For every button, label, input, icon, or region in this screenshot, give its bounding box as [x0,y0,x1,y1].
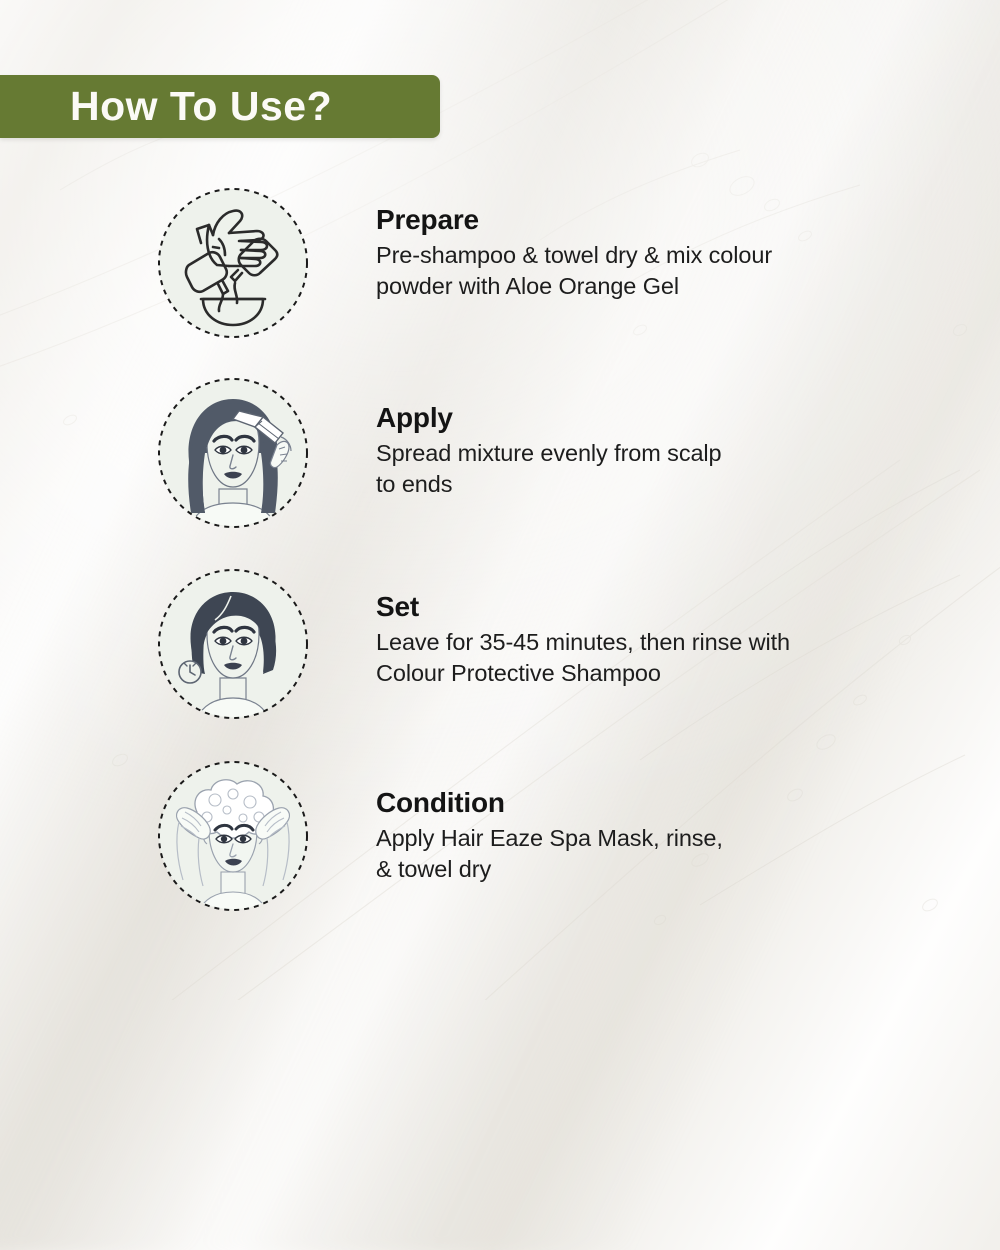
steps-list: Prepare Pre-shampoo & towel dry & mix co… [0,0,1000,1000]
woman-brush-applying-icon [157,377,309,529]
step-title: Condition [376,788,936,819]
how-to-use-banner: How To Use? [0,75,440,138]
step-copy: Condition Apply Hair Eaze Spa Mask, rins… [376,788,936,885]
step-item: Condition Apply Hair Eaze Spa Mask, rins… [0,760,1000,930]
step-item: Apply Spread mixture evenly from scalp t… [0,377,1000,547]
step-item: Prepare Pre-shampoo & towel dry & mix co… [0,187,1000,357]
page-title: How To Use? [70,86,332,127]
step-title: Set [376,592,936,623]
step-icon-prepare [157,187,309,339]
step-title: Apply [376,403,936,434]
woman-timer-waiting-icon [157,568,309,720]
step-copy: Prepare Pre-shampoo & towel dry & mix co… [376,205,936,302]
step-icon-apply [157,377,309,529]
glove-bottle-bowl-icon [157,187,309,339]
step-icon-set [157,568,309,720]
step-description: Leave for 35-45 minutes, then rinse with… [376,627,936,690]
woman-washing-lather-icon [157,760,309,912]
step-copy: Apply Spread mixture evenly from scalp t… [376,403,936,500]
step-description: Spread mixture evenly from scalp to ends [376,438,936,501]
step-title: Prepare [376,205,936,236]
step-item: Set Leave for 35-45 minutes, then rinse … [0,568,1000,738]
step-copy: Set Leave for 35-45 minutes, then rinse … [376,592,936,689]
step-description: Apply Hair Eaze Spa Mask, rinse, & towel… [376,823,936,886]
step-icon-condition [157,760,309,912]
step-description: Pre-shampoo & towel dry & mix colour pow… [376,240,936,303]
